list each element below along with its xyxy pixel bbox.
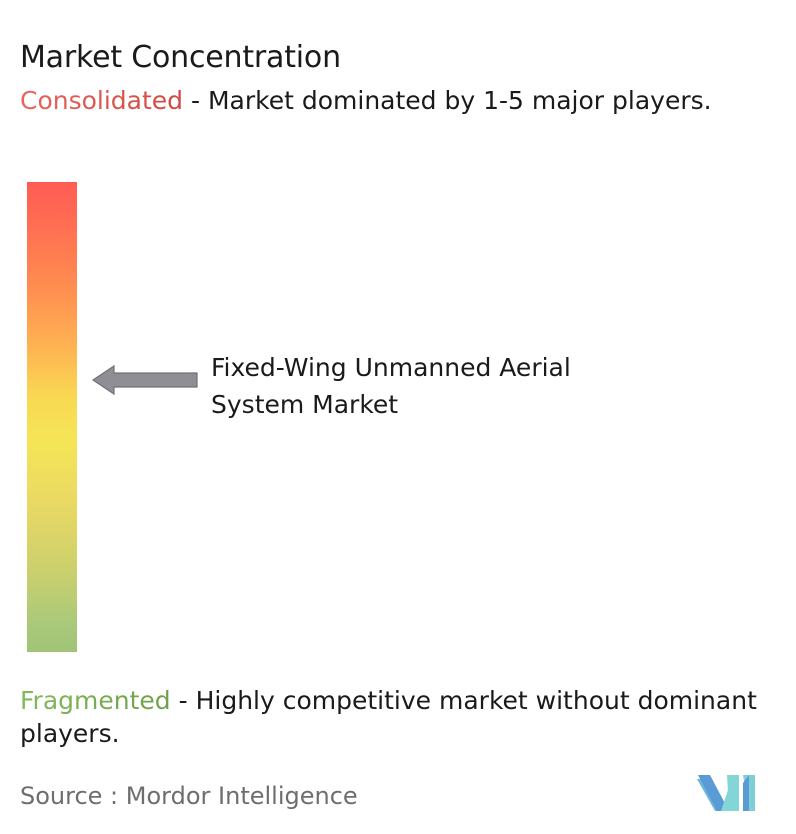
market-concentration-gradient-bar xyxy=(27,182,77,652)
mordor-intelligence-logo xyxy=(697,771,761,815)
legend-fragmented-separator: - xyxy=(171,686,196,715)
source-attribution: Source : Mordor Intelligence xyxy=(20,781,358,811)
left-arrow-icon xyxy=(92,363,198,397)
legend-consolidated-description: Market dominated by 1-5 major players. xyxy=(208,86,712,115)
page-title: Market Concentration xyxy=(20,39,341,77)
legend-fragmented: Fragmented - Highly competitive market w… xyxy=(20,684,790,750)
legend-consolidated-keyword: Consolidated xyxy=(20,86,183,115)
legend-consolidated: Consolidated - Market dominated by 1-5 m… xyxy=(20,84,760,117)
marker-label: Fixed-Wing Unmanned Aerial System Market xyxy=(211,349,631,423)
legend-fragmented-keyword: Fragmented xyxy=(20,686,171,715)
legend-consolidated-separator: - xyxy=(183,86,208,115)
